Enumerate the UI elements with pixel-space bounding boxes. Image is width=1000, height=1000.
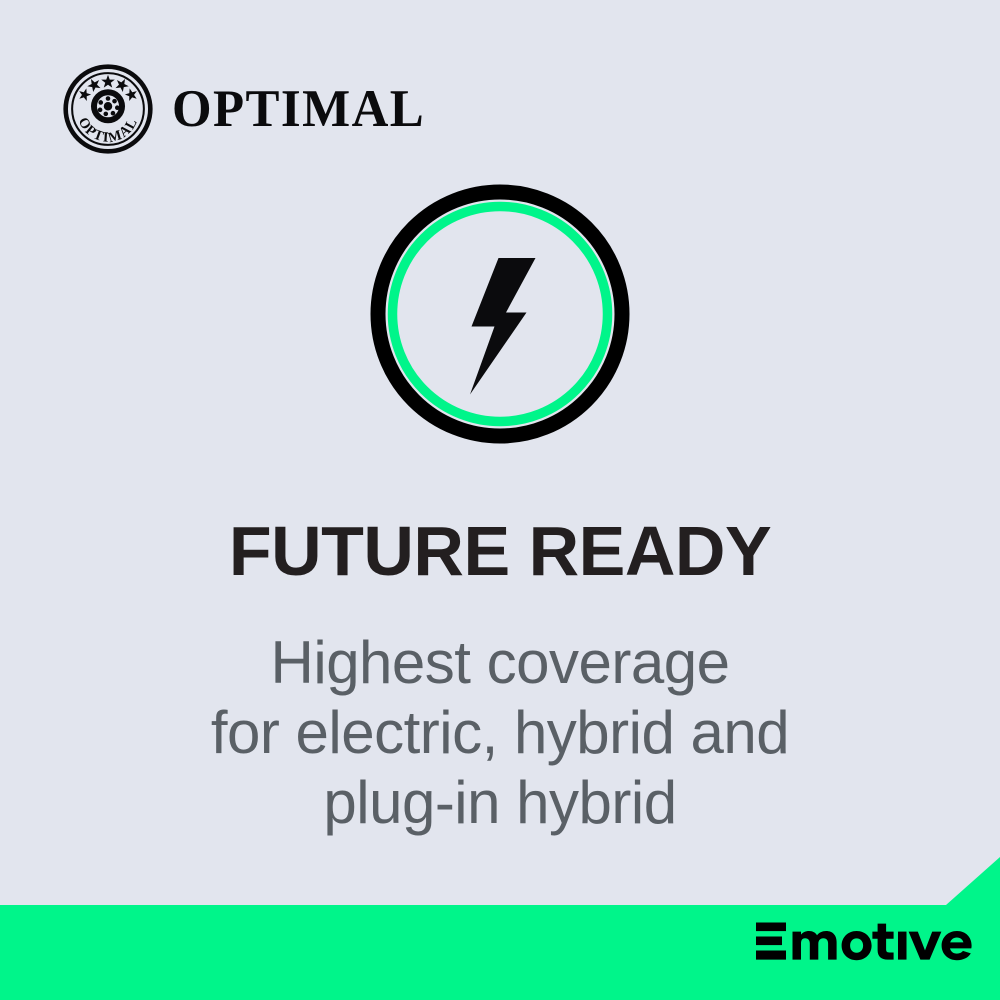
promo-poster: OPTIMAL OPTIMAL — [0, 0, 1000, 1000]
subhead-line-3: plug-in hybrid — [0, 768, 1000, 838]
brand-wordmark: OPTIMAL — [172, 83, 425, 136]
lightning-bolt-in-circle-icon — [368, 182, 632, 446]
subhead-line-2: for electric, hybrid and — [0, 698, 1000, 768]
subhead: Highest coverage for electric, hybrid an… — [0, 586, 1000, 839]
brand-lockup: OPTIMAL OPTIMAL — [62, 63, 436, 155]
emotive-wordmark-logo — [756, 922, 974, 974]
copy-block: FUTURE READY Highest coverage for electr… — [0, 516, 1000, 839]
page-title: FUTURE READY — [0, 516, 1000, 586]
optimal-roundel-badge-icon: OPTIMAL — [62, 63, 154, 155]
subhead-line-1: Highest coverage — [0, 628, 1000, 698]
